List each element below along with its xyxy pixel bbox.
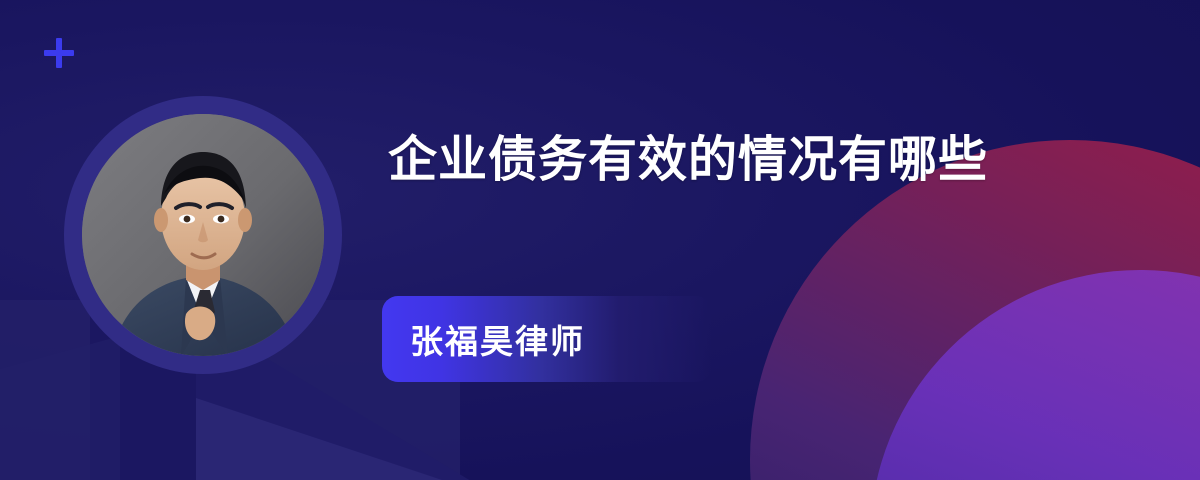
headline-block: 企业债务有效的情况有哪些: [388, 126, 1088, 196]
plus-icon: [44, 38, 74, 68]
avatar-photo: [82, 114, 324, 356]
portrait-illustration: [82, 114, 324, 356]
lawyer-article-banner: 企业债务有效的情况有哪些 张福昊律师: [0, 0, 1200, 480]
avatar: [64, 96, 342, 374]
lawyer-name-button[interactable]: 张福昊律师: [382, 296, 712, 382]
page-title: 企业债务有效的情况有哪些: [388, 126, 1088, 196]
